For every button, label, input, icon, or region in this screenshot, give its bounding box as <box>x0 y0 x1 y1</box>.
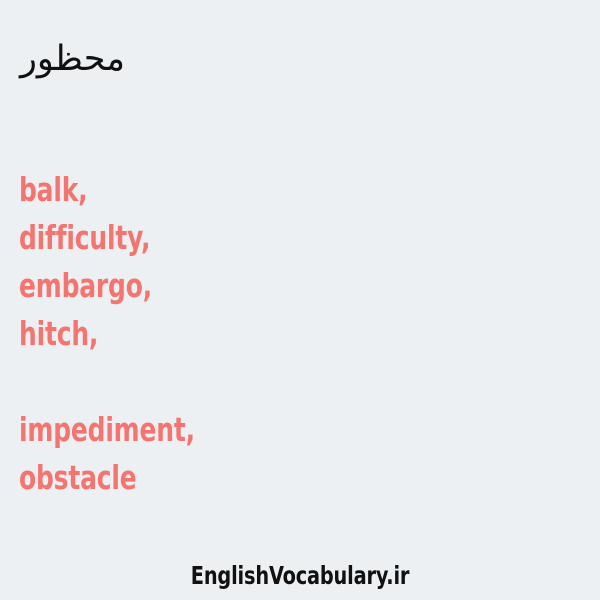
vocabulary-card: محظور balk, difficulty, embargo, hitch, … <box>0 0 600 600</box>
list-item: difficulty, <box>19 214 489 262</box>
list-item: obstacle <box>19 454 489 502</box>
site-branding: EnglishVocabulary.ir <box>191 561 410 591</box>
list-item: balk, <box>19 166 489 214</box>
footer: EnglishVocabulary.ir <box>0 561 600 591</box>
list-item: impediment, <box>19 406 489 454</box>
page-title: محظور <box>20 36 125 82</box>
list-item-spacer <box>19 358 489 406</box>
list-item: embargo, <box>19 262 489 310</box>
translation-list: balk, difficulty, embargo, hitch, impedi… <box>19 166 579 502</box>
list-item: hitch, <box>19 310 489 358</box>
